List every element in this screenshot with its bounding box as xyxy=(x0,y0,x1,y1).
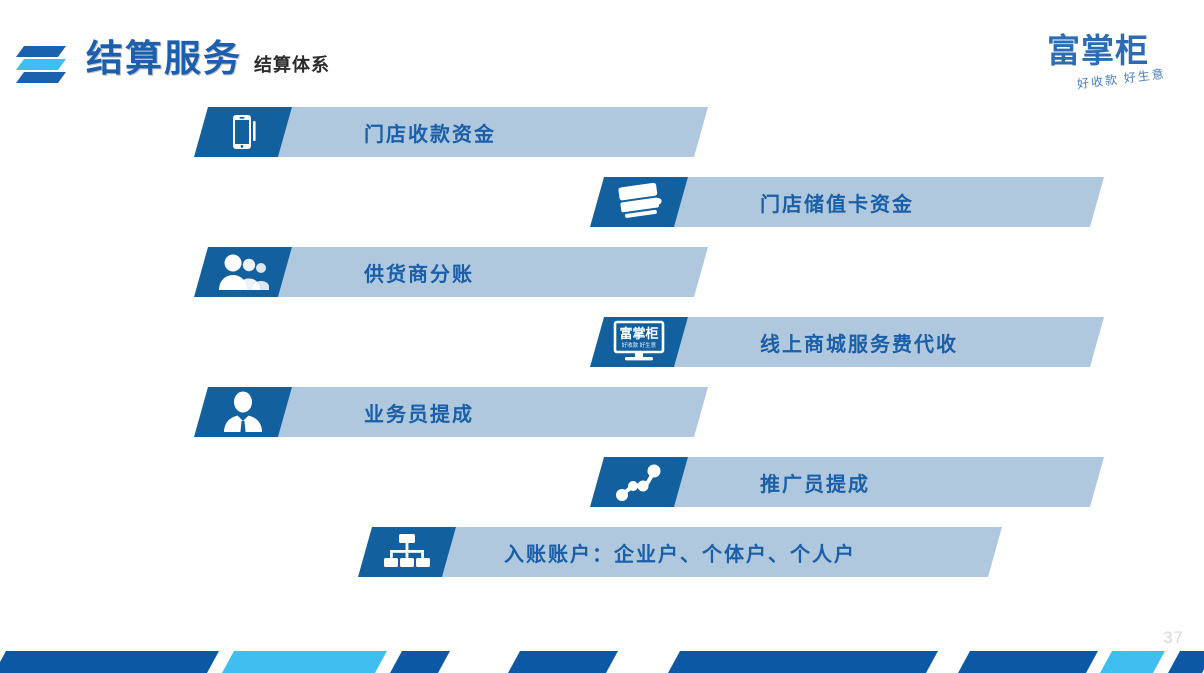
brand-logo: 富掌柜 好收款 好生意 xyxy=(1028,36,1168,104)
page-number: 37 xyxy=(1163,628,1184,648)
page-title: 结算服务 xyxy=(86,40,242,77)
smartphone-icon xyxy=(194,107,292,157)
settlement-item-bar: 门店收款资金 xyxy=(278,107,708,157)
page-subtitle: 结算体系 xyxy=(254,56,330,77)
settlement-item-label: 供货商分账 xyxy=(364,258,474,287)
page-title-block: 结算服务 结算体系 xyxy=(86,40,330,77)
settlement-item-label: 入账账户：企业户、个体户、个人户 xyxy=(504,538,856,567)
settlement-item-bar: 入账账户：企业户、个体户、个人户 xyxy=(442,527,1002,577)
bottom-bar-segment xyxy=(390,651,450,673)
bottom-bar-segment xyxy=(0,651,219,673)
settlement-item-label: 线上商城服务费代收 xyxy=(760,328,958,357)
desktop-monitor-icon: 富掌柜 好收款 好生意 xyxy=(590,317,688,367)
settlement-item-bar: 线上商城服务费代收 xyxy=(674,317,1104,367)
stacked-layers-logo-icon xyxy=(14,44,70,86)
settlement-item-label: 推广员提成 xyxy=(760,468,870,497)
businessperson-icon xyxy=(194,387,292,437)
bottom-bar-segment xyxy=(958,651,1098,673)
org-chart-icon xyxy=(358,527,456,577)
settlement-item-label: 门店储值卡资金 xyxy=(760,188,914,217)
people-group-icon xyxy=(194,247,292,297)
settlement-item-bar: 业务员提成 xyxy=(278,387,708,437)
network-nodes-icon xyxy=(590,457,688,507)
svg-text:好收款 好生意: 好收款 好生意 xyxy=(622,341,657,349)
settlement-item-bar: 供货商分账 xyxy=(278,247,708,297)
settlement-item-bar: 推广员提成 xyxy=(674,457,1104,507)
brand-name: 富掌柜 xyxy=(1028,36,1168,69)
bottom-bar-segment xyxy=(1168,651,1204,673)
svg-text:富掌柜: 富掌柜 xyxy=(619,326,658,341)
bottom-bar-segment xyxy=(222,651,387,673)
settlement-item-label: 业务员提成 xyxy=(364,398,474,427)
settlement-item-label: 门店收款资金 xyxy=(364,118,496,147)
settlement-item-bar: 门店储值卡资金 xyxy=(674,177,1104,227)
bottom-bar-segment xyxy=(508,651,618,673)
bottom-bar-segment xyxy=(1100,651,1165,673)
bottom-decorative-bar xyxy=(0,651,1204,673)
slide-canvas: 结算服务 结算体系 富掌柜 好收款 好生意 门店收款资金 门店储值卡资金 供货商… xyxy=(0,0,1204,673)
bottom-bar-segment xyxy=(668,651,938,673)
stored-value-card-icon xyxy=(590,177,688,227)
